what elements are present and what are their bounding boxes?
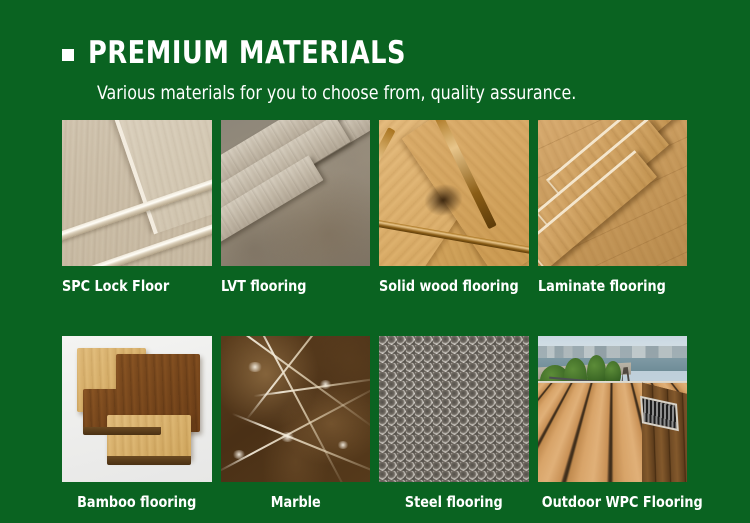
solid-wood-flooring-photo[interactable] [379, 120, 529, 266]
marble-speck [319, 380, 332, 389]
material-card-lvt-flooring[interactable]: LVT flooring [221, 120, 371, 296]
material-card-bamboo-flooring[interactable]: Bamboo flooring [62, 336, 212, 512]
material-caption: Outdoor WPC Flooring [541, 482, 683, 512]
materials-row-top: SPC Lock Floor LVT flooring [62, 120, 688, 296]
wpc-deck-scene [538, 336, 688, 482]
bamboo-plank-edge [107, 456, 191, 465]
page-title: PREMIUM MATERIALS [88, 36, 406, 70]
banner-header: PREMIUM MATERIALS Various materials for … [0, 0, 750, 118]
material-card-marble[interactable]: Marble [221, 336, 371, 512]
materials-row-bottom: Bamboo flooring Marble [62, 336, 688, 512]
material-caption: LVT flooring [221, 266, 363, 296]
spc-lock-floor-photo[interactable] [62, 120, 212, 266]
bamboo-plank-light [107, 415, 191, 459]
material-card-steel-flooring[interactable]: Steel flooring [379, 336, 529, 512]
steel-flooring-photo[interactable] [379, 336, 529, 482]
material-caption: Laminate flooring [538, 266, 680, 296]
bamboo-flooring-photo[interactable] [62, 336, 212, 482]
square-bullet-icon [62, 49, 74, 61]
bamboo-plank-edge [83, 427, 161, 435]
material-caption: Marble [224, 482, 366, 512]
material-card-solid-wood-flooring[interactable]: Solid wood flooring [379, 120, 529, 296]
materials-grid: SPC Lock Floor LVT flooring [62, 120, 688, 512]
material-caption: Solid wood flooring [379, 266, 521, 296]
lvt-flooring-photo[interactable] [221, 120, 371, 266]
material-card-spc-lock-floor[interactable]: SPC Lock Floor [62, 120, 212, 296]
material-card-laminate-flooring[interactable]: Laminate flooring [538, 120, 688, 296]
marble-photo[interactable] [221, 336, 371, 482]
page-subtitle: Various materials for you to choose from… [97, 81, 576, 105]
outdoor-wpc-flooring-photo[interactable] [538, 336, 688, 482]
material-caption: Steel flooring [383, 482, 525, 512]
laminate-flooring-photo[interactable] [538, 120, 688, 266]
material-caption: Bamboo flooring [66, 482, 208, 512]
title-row: PREMIUM MATERIALS [62, 36, 434, 70]
material-card-outdoor-wpc-flooring[interactable]: Outdoor WPC Flooring [538, 336, 688, 512]
premium-materials-banner: PREMIUM MATERIALS Various materials for … [0, 0, 750, 523]
material-caption: SPC Lock Floor [62, 266, 204, 296]
steel-perforation-pattern [379, 336, 529, 482]
